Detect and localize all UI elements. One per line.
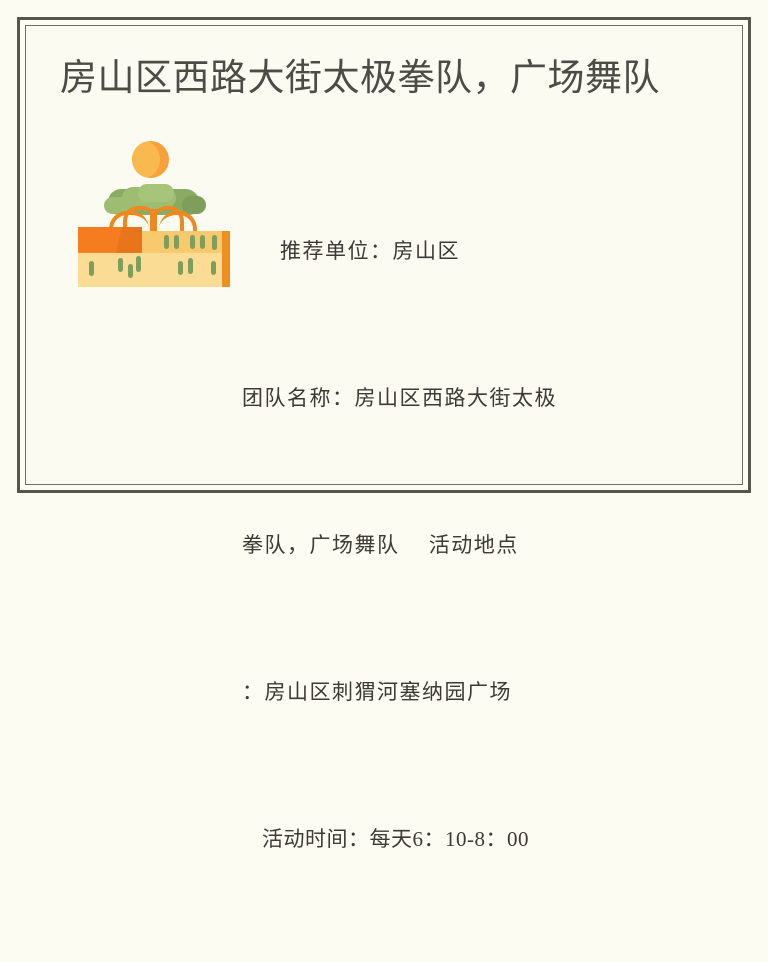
grass-tuft <box>164 235 169 249</box>
grass-tuft <box>136 256 141 272</box>
card-content: 房山区西路大街太极拳队，广场舞队 <box>26 26 742 484</box>
card-inner-border: 房山区西路大街太极拳队，广场舞队 <box>25 25 743 485</box>
info-line-location: ：房山区刺猬河塞纳园广场 <box>242 668 712 717</box>
info-line-team-name-2: 拳队，广场舞队 活动地点 <box>242 521 712 570</box>
document-card: 房山区西路大街太极拳队，广场舞队 <box>17 17 751 493</box>
info-line-recommending-unit: 推荐单位：房山区 <box>242 227 712 276</box>
body-row: 推荐单位：房山区 团队名称：房山区西路大街太极 拳队，广场舞队 活动地点 ：房山… <box>56 125 712 962</box>
info-line-team-name-1: 团队名称：房山区西路大街太极 <box>242 374 712 423</box>
grass-tuft <box>89 261 94 276</box>
grass-tuft <box>212 235 217 250</box>
info-line-time: 活动时间：每天6：10-8：00 <box>242 815 712 864</box>
grass-tuft <box>128 264 133 278</box>
canopy-top-layer <box>138 184 174 202</box>
grass-tuft <box>174 235 179 249</box>
grass-tuft <box>118 258 123 272</box>
grass-tuft <box>211 261 216 275</box>
right-edge-strip <box>222 231 230 287</box>
grass-tuft <box>178 261 183 275</box>
page-title: 房山区西路大街太极拳队，广场舞队 <box>56 54 712 103</box>
activity-info-block: 推荐单位：房山区 团队名称：房山区西路大街太极 拳队，广场舞队 活动地点 ：房山… <box>242 125 712 962</box>
grass-tuft <box>188 258 193 274</box>
grass-tuft <box>190 235 195 249</box>
sun-icon <box>132 141 169 178</box>
ground-front-band <box>78 253 230 287</box>
grass-tuft <box>200 235 205 249</box>
savanna-illustration <box>78 135 230 287</box>
